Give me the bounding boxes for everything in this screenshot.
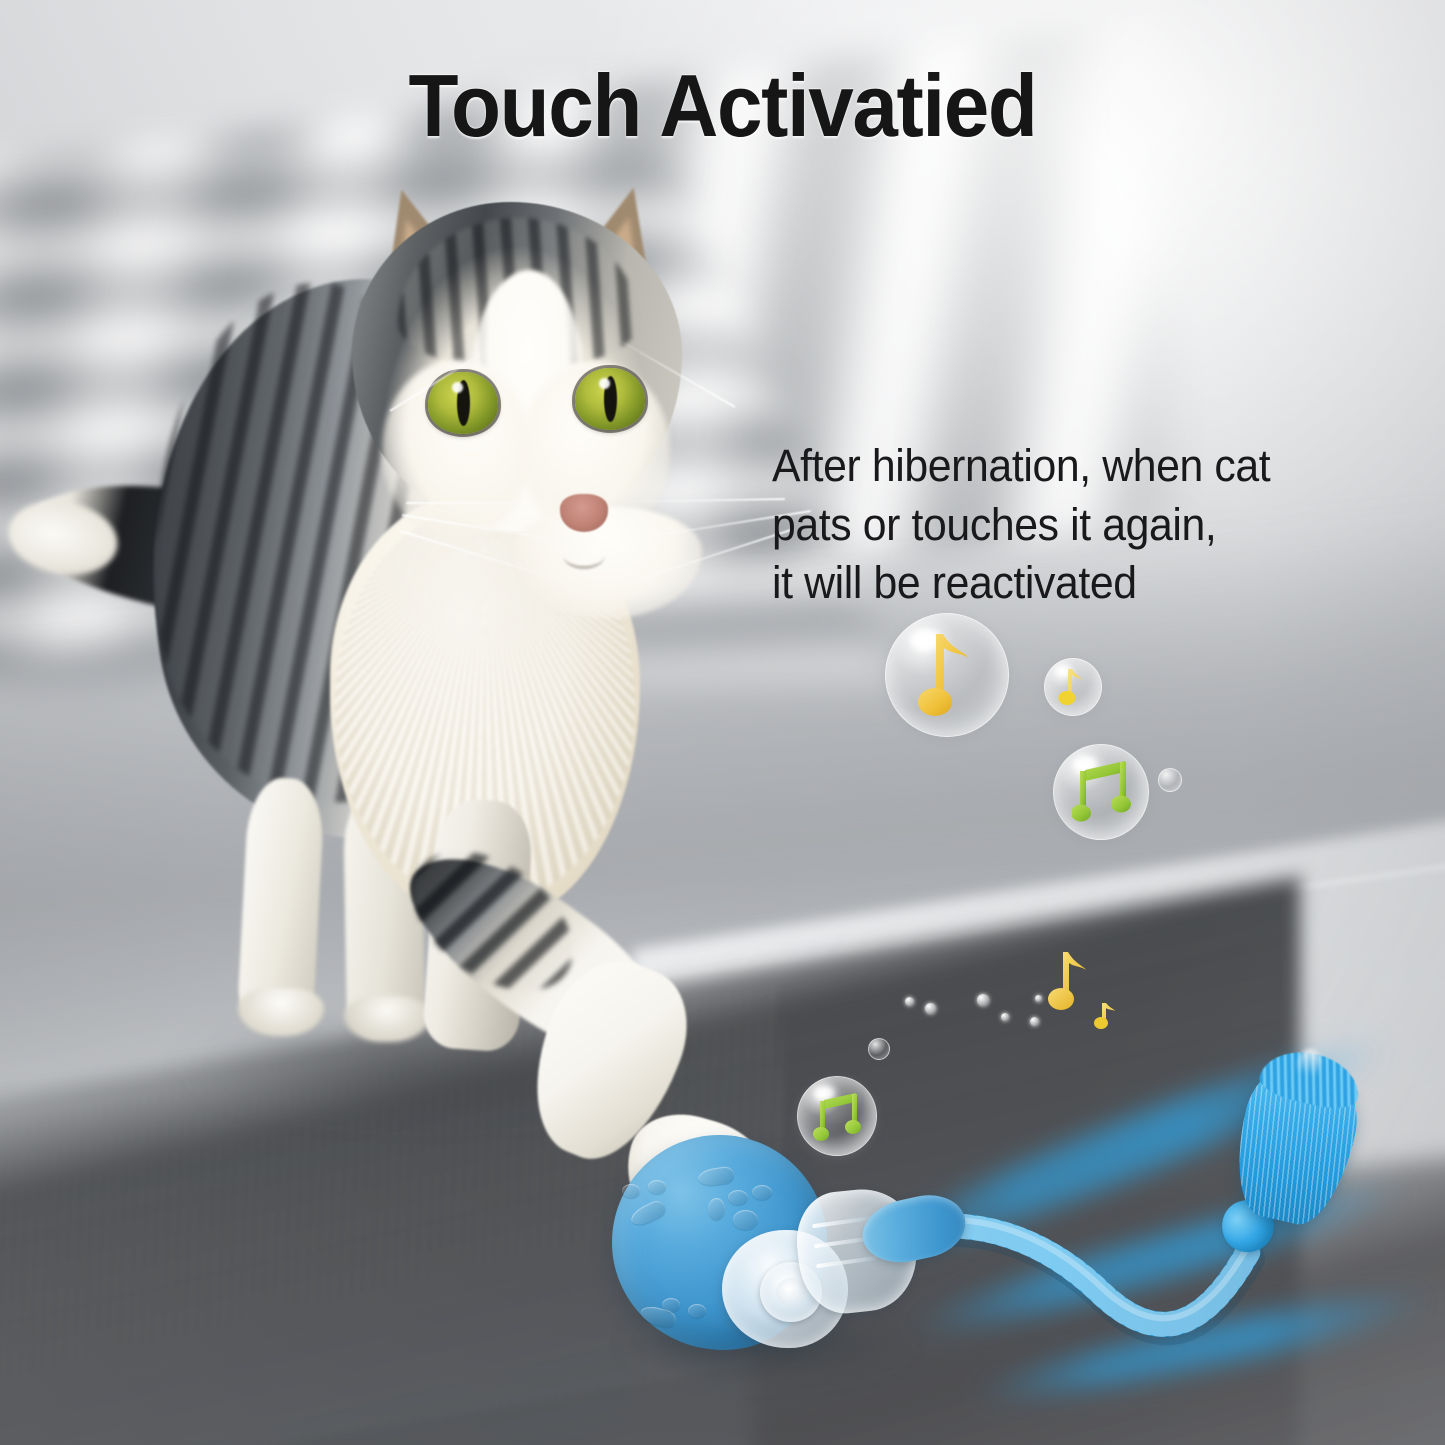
cat-hind-paw-right bbox=[344, 996, 430, 1042]
cat-eye-glint-left bbox=[452, 382, 463, 393]
cat-hind-paw-left bbox=[238, 988, 324, 1036]
floating-note-yellow-tiny-icon bbox=[1092, 1000, 1120, 1032]
description-line-3: it will be reactivated bbox=[772, 554, 1361, 613]
ball-paw-emboss bbox=[728, 1190, 748, 1205]
eighth-note-small-icon bbox=[1057, 666, 1087, 708]
eighth-note-icon bbox=[918, 626, 974, 722]
empty-bubble-tiny bbox=[1158, 768, 1182, 792]
sparkle-dot bbox=[1001, 1013, 1009, 1021]
cat-toy-ball-assembly bbox=[600, 1040, 1445, 1445]
product-feature-poster: Touch Activatied After hibernation, when… bbox=[0, 0, 1445, 1445]
page-title: Touch Activatied bbox=[51, 55, 1395, 157]
ball-paw-emboss bbox=[752, 1185, 772, 1200]
ball-paw-emboss bbox=[688, 1304, 706, 1318]
ball-paw-emboss bbox=[622, 1184, 640, 1198]
ball-paw-emboss bbox=[733, 1210, 758, 1230]
cat-eye-glint-right bbox=[599, 378, 610, 389]
cat-mouth bbox=[563, 542, 605, 569]
floating-note-yellow-icon bbox=[1046, 948, 1092, 1014]
beamed-eighth-notes-icon bbox=[1072, 758, 1134, 826]
description-line-1: After hibernation, when cat bbox=[772, 437, 1361, 496]
description-line-2: pats or touches it again, bbox=[772, 496, 1361, 555]
sparkle-dot bbox=[977, 994, 989, 1006]
cat-whisker bbox=[406, 502, 566, 504]
ball-paw-emboss bbox=[648, 1180, 666, 1194]
sparkle-dot bbox=[1030, 1017, 1039, 1026]
sparkle-dot bbox=[1035, 995, 1042, 1002]
sparkle-dot bbox=[925, 1003, 936, 1014]
sparkle-dot bbox=[905, 997, 914, 1006]
toy-wheel-center bbox=[776, 1278, 806, 1306]
ball-paw-emboss bbox=[662, 1298, 680, 1312]
description-text: After hibernation, when cat pats or touc… bbox=[772, 437, 1361, 613]
ball-paw-emboss bbox=[708, 1198, 725, 1220]
